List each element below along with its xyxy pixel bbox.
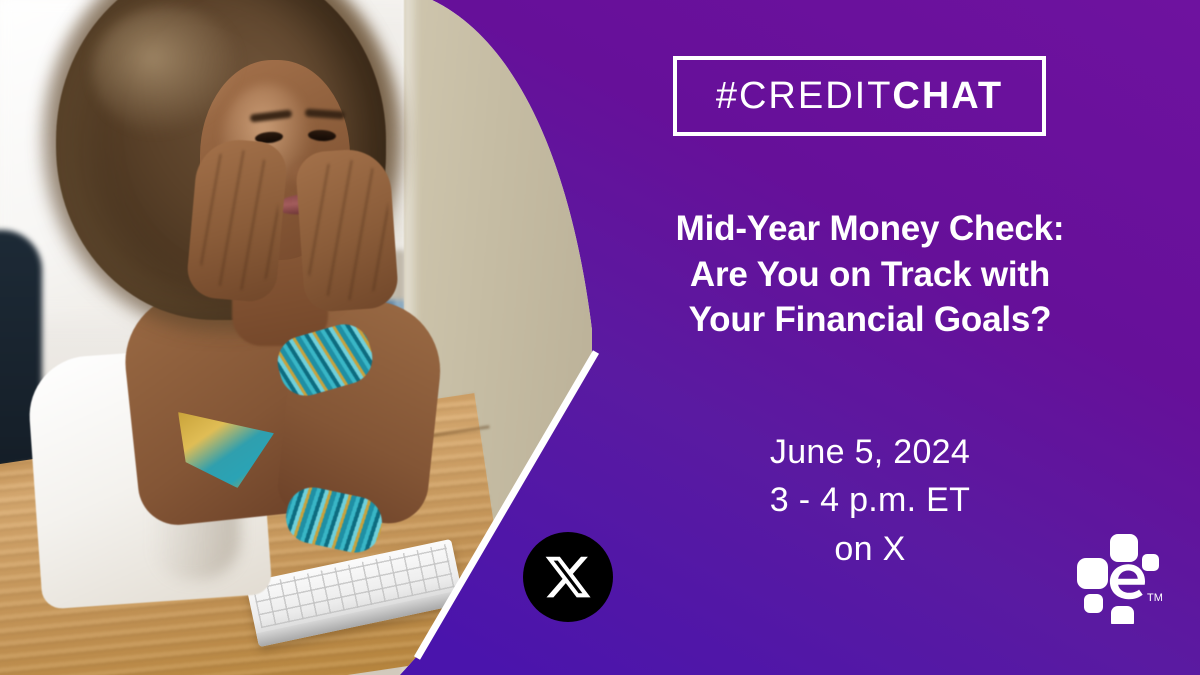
event-platform: on X xyxy=(620,525,1120,573)
x-logo-icon xyxy=(543,552,593,602)
woman-hair-highlight xyxy=(92,6,242,136)
event-details: June 5, 2024 3 - 4 p.m. ET on X xyxy=(620,428,1120,573)
event-time: 3 - 4 p.m. ET xyxy=(620,476,1120,524)
page-title: Mid-Year Money Check: Are You on Track w… xyxy=(620,206,1120,343)
credit-chat-promo-poster: #CREDITCHAT Mid-Year Money Check: Are Yo… xyxy=(0,0,1200,675)
woman-left-fingers xyxy=(198,150,278,290)
badge-hashtag-text: #CREDIT xyxy=(716,75,893,117)
woman-right-fingers xyxy=(306,160,388,300)
experian-e-logo-icon: TM xyxy=(1068,528,1164,624)
experian-logo: TM xyxy=(1068,528,1164,624)
headline-line-1: Mid-Year Money Check: xyxy=(620,206,1120,252)
headline-line-3: Your Financial Goals? xyxy=(620,297,1120,343)
badge-chat-text: CHAT xyxy=(892,75,1003,117)
credit-chat-badge: #CREDITCHAT xyxy=(673,56,1046,136)
trademark-symbol: TM xyxy=(1147,592,1163,604)
event-date: June 5, 2024 xyxy=(620,428,1120,476)
credit-chat-badge-text: #CREDITCHAT xyxy=(716,77,1003,115)
x-logo-badge[interactable] xyxy=(523,532,613,622)
headline-line-2: Are You on Track with xyxy=(620,252,1120,298)
